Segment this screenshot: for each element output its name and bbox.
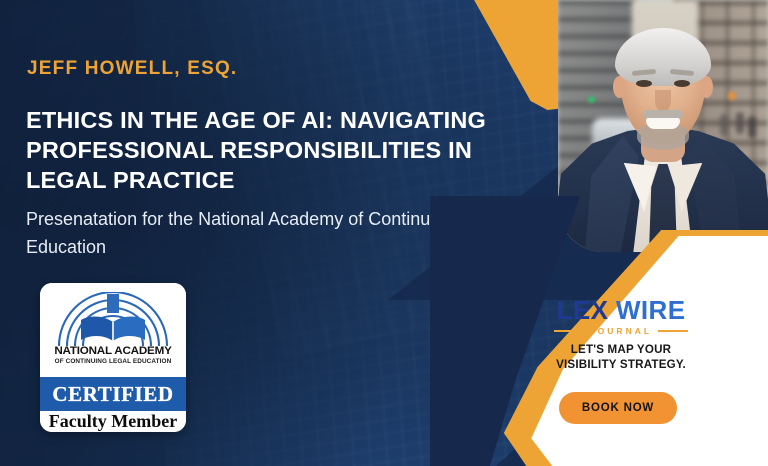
brand-subline-row: JOURNAL	[547, 326, 695, 336]
cta-headline-line1: LET'S MAP YOUR	[530, 342, 712, 357]
brand-rule-right	[658, 330, 688, 332]
brand-word-wire: WIRE	[616, 295, 685, 325]
badge-academy-name: NATIONAL ACADEMY	[40, 345, 186, 357]
photo-pedestrian	[720, 114, 728, 136]
badge-emblem-area: NATIONAL ACADEMY OF CONTINUING LEGAL EDU…	[40, 283, 186, 355]
cta-headline-line2: VISIBILITY STRATEGY.	[530, 357, 712, 372]
photo-smile	[646, 118, 680, 129]
photo-pedestrian	[748, 116, 756, 138]
presentation-banner: JEFF HOWELL, ESQ. Ethics in the Age of A…	[0, 0, 768, 466]
badge-role-label: Faculty Member	[49, 411, 177, 432]
badge-certified-band: CERTIFIED	[40, 377, 186, 411]
photo-nose	[655, 90, 671, 112]
photo-traffic-light-green	[588, 96, 595, 103]
speaker-photo	[558, 0, 768, 252]
book-now-button[interactable]: BOOK NOW	[559, 392, 677, 424]
badge-role-band: Faculty Member	[40, 411, 186, 432]
photo-street-light-amber	[728, 92, 736, 100]
brand-logo[interactable]: LEX WIRE JOURNAL	[547, 296, 695, 336]
photo-ear-right	[700, 76, 713, 98]
brand-word-lex: LEX	[557, 295, 609, 325]
open-book-icon	[51, 292, 175, 348]
photo-eye-right	[674, 80, 690, 87]
photo-pedestrian	[736, 112, 744, 134]
speaker-name: JEFF HOWELL, ESQ.	[27, 58, 237, 80]
brand-wordmark: LEX WIRE	[547, 296, 695, 324]
badge-certified-label: CERTIFIED	[52, 382, 173, 407]
cta-headline: LET'S MAP YOUR VISIBILITY STRATEGY.	[530, 342, 712, 372]
brand-subline: JOURNAL	[590, 326, 652, 336]
brand-rule-left	[554, 330, 584, 332]
photo-eye-left	[636, 80, 652, 87]
certification-badge: NATIONAL ACADEMY OF CONTINUING LEGAL EDU…	[40, 283, 186, 432]
badge-academy-subtitle: OF CONTINUING LEGAL EDUCATION	[40, 358, 186, 365]
page-title: Ethics in the Age of AI: Navigating Prof…	[26, 105, 538, 195]
